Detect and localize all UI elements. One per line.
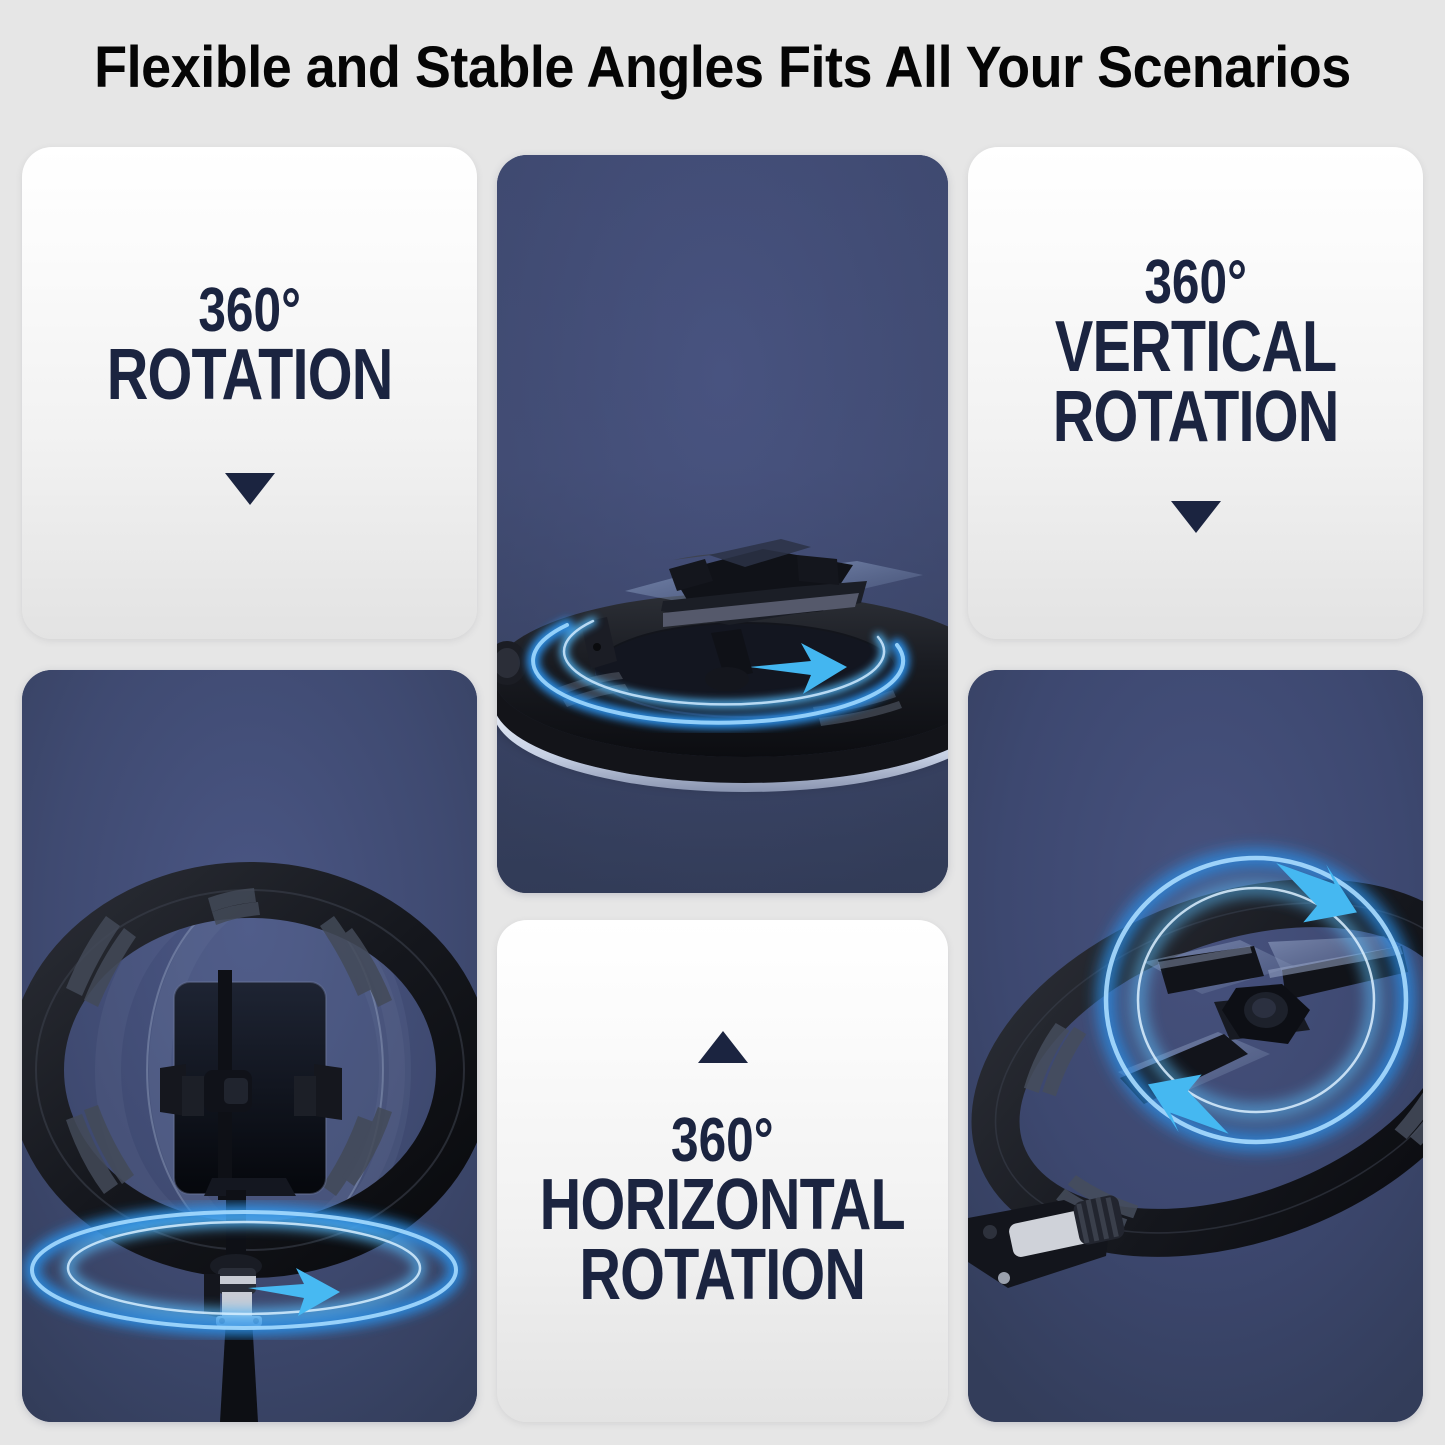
card-360-horizontal-rotation-degree: 360° bbox=[540, 1111, 905, 1171]
photo-ring-light-vertical-rotation bbox=[968, 670, 1423, 1422]
card-360-horizontal-rotation-line2: HORIZONTAL bbox=[540, 1171, 905, 1241]
triangle-up-icon bbox=[698, 1031, 748, 1063]
photo-ring-light-on-tripod bbox=[22, 670, 477, 1422]
card-360-vertical-rotation-caption: 360° VERTICAL ROTATION bbox=[1053, 253, 1339, 453]
ring-light-tripod-illustration bbox=[22, 670, 477, 1422]
card-360-rotation: 360° ROTATION bbox=[22, 147, 477, 639]
ring-light-vertical-rotation-illustration bbox=[968, 670, 1423, 1422]
card-360-horizontal-rotation: 360° HORIZONTAL ROTATION bbox=[497, 920, 948, 1422]
triangle-down-icon bbox=[1171, 501, 1221, 533]
card-360-horizontal-rotation-caption: 360° HORIZONTAL ROTATION bbox=[540, 1111, 905, 1311]
card-360-vertical-rotation-degree: 360° bbox=[1053, 253, 1339, 313]
page-title: Flexible and Stable Angles Fits All Your… bbox=[51, 34, 1395, 101]
card-360-vertical-rotation: 360° VERTICAL ROTATION bbox=[968, 147, 1423, 639]
ring-light-top-view-illustration bbox=[497, 155, 948, 893]
card-360-horizontal-rotation-line3: ROTATION bbox=[540, 1241, 905, 1311]
photo-ring-light-top-view bbox=[497, 155, 948, 893]
card-360-rotation-line2: ROTATION bbox=[107, 341, 393, 411]
card-360-rotation-degree: 360° bbox=[107, 281, 393, 341]
card-360-rotation-caption: 360° ROTATION bbox=[107, 281, 393, 411]
card-360-vertical-rotation-line2: VERTICAL bbox=[1053, 313, 1339, 383]
card-360-vertical-rotation-line3: ROTATION bbox=[1053, 383, 1339, 453]
triangle-down-icon bbox=[225, 473, 275, 505]
